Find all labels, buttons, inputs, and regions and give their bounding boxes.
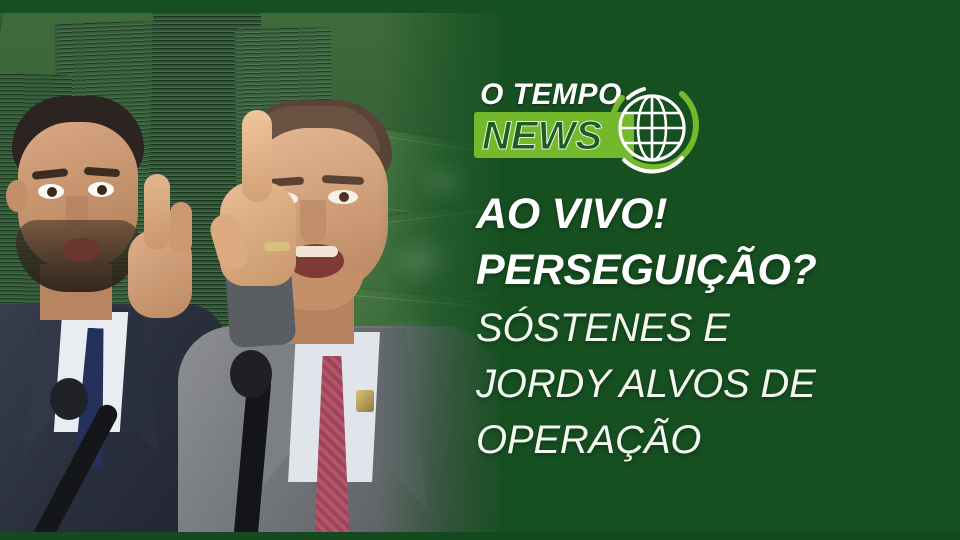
headline: AO VIVO! PERSEGUIÇÃO? [476, 186, 946, 298]
channel-logo[interactable]: O TEMPO NEWS [474, 78, 712, 178]
logo-news-text: NEWS [482, 114, 602, 158]
thumbnail-canvas: O TEMPO NEWS AO VIVO! PERSEGUIÇÃO? SÓSTE… [0, 0, 960, 540]
top-band [0, 0, 960, 13]
subheadline: SÓSTENES E JORDY ALVOS DE OPERAÇÃO [476, 300, 952, 468]
bottom-band [0, 532, 960, 540]
microphone-icon [230, 350, 272, 398]
headline-line-2: PERSEGUIÇÃO? [476, 242, 946, 298]
logo-otempo-text: O TEMPO [480, 80, 622, 110]
headline-line-1: AO VIVO! [476, 186, 946, 242]
subheadline-line-3: OPERAÇÃO [476, 412, 952, 468]
raised-hand-left [122, 174, 200, 324]
pointing-hand-icon [214, 110, 306, 340]
lapel-pin-icon [356, 390, 374, 412]
subheadline-line-2: JORDY ALVOS DE [476, 356, 952, 412]
news-photo [0, 0, 500, 540]
microphone-icon [50, 378, 88, 420]
globe-icon [604, 80, 700, 176]
subheadline-line-1: SÓSTENES E [476, 300, 952, 356]
